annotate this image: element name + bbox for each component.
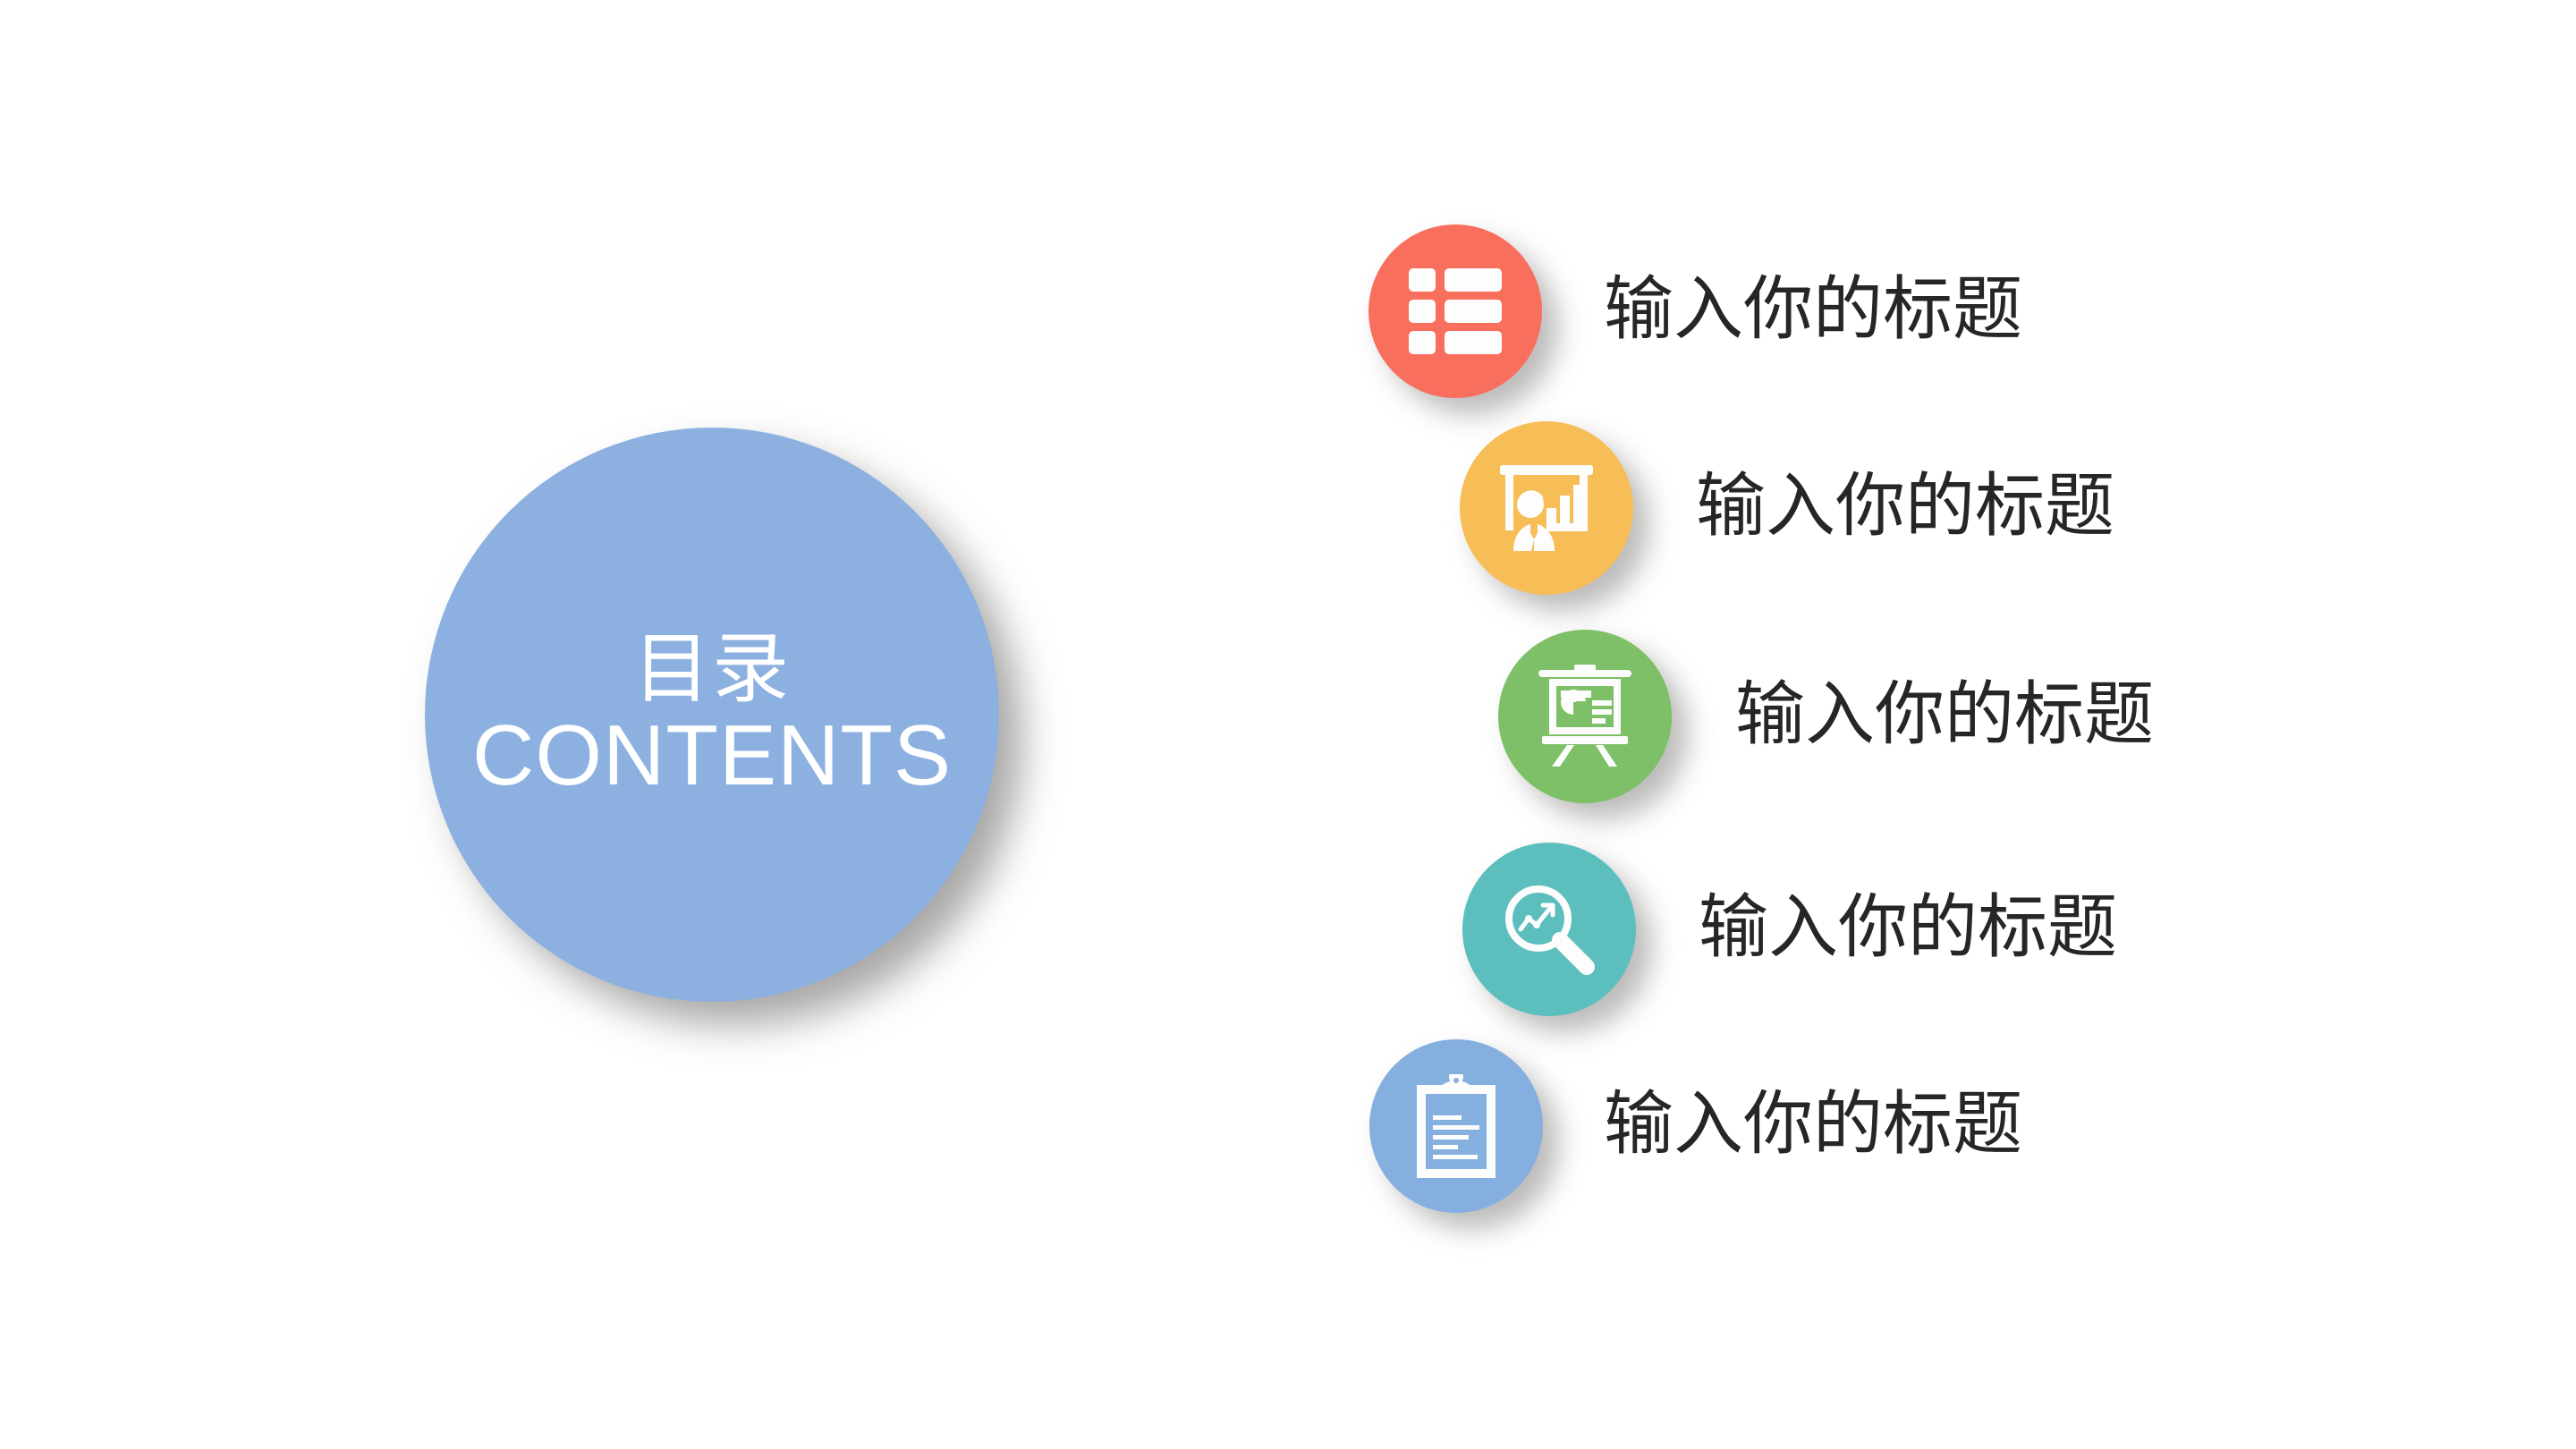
agenda-icon-bubble-1[interactable] xyxy=(1368,225,1542,398)
agenda-icon-bubble-2[interactable] xyxy=(1460,421,1633,595)
agenda-item-label-1: 输入你的标题 xyxy=(1604,275,2022,344)
flipchart-pie-icon xyxy=(1537,665,1633,768)
presentation-person-chart-icon xyxy=(1496,462,1597,555)
contents-circle: 目录 CONTENTS xyxy=(425,428,999,1002)
magnifier-trend-icon xyxy=(1501,881,1597,978)
slide-canvas: 目录 CONTENTS 输入你的标题 xyxy=(0,0,2576,1449)
clipboard-lines-icon xyxy=(1411,1074,1501,1178)
agenda-item-label-5: 输入你的标题 xyxy=(1604,1089,2022,1159)
agenda-icon-bubble-4[interactable] xyxy=(1462,843,1636,1016)
list-table-icon xyxy=(1409,268,1502,354)
agenda-item-label-2: 输入你的标题 xyxy=(1696,471,2114,541)
contents-title-en: CONTENTS xyxy=(472,713,952,799)
agenda-icon-bubble-3[interactable] xyxy=(1498,630,1672,803)
agenda-item-label-4: 输入你的标题 xyxy=(1699,893,2117,962)
agenda-item-label-3: 输入你的标题 xyxy=(1735,680,2154,750)
agenda-icon-bubble-5[interactable] xyxy=(1369,1039,1543,1213)
contents-title-cn: 目录 xyxy=(633,631,791,708)
